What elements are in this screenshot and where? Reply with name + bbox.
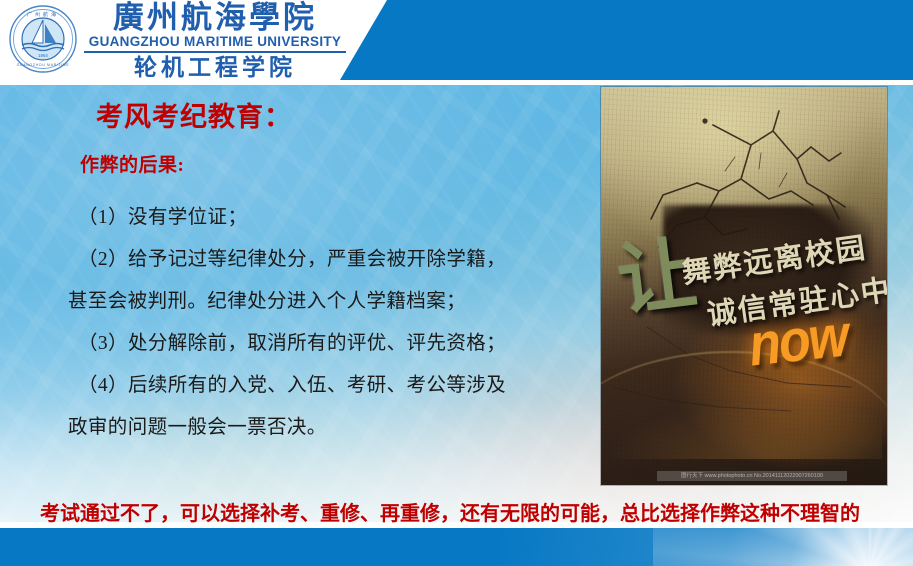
- list-item: 甚至会被判刑。纪律处分进入个人学籍档案；: [68, 281, 583, 323]
- identity-divider: [84, 51, 346, 53]
- university-seal-sailboat-icon: 1964 广州航海 GUANGZHOU MARITIME: [8, 4, 78, 74]
- slide-footer: [0, 528, 913, 566]
- slide-header: 1964 广州航海 GUANGZHOU MARITIME 廣州航海學院 GUAN…: [0, 0, 913, 80]
- poster-watermark: 图行天下 www.photophoto.cn No.20141112022007…: [657, 471, 847, 481]
- department-name-cn: 轮机工程学院: [84, 55, 346, 80]
- list-item: （2）给予记过等纪律处分，严重会被开除学籍，: [78, 239, 583, 281]
- section-subheading: 作弊的后果:: [80, 150, 184, 177]
- list-item: 政审的问题一般会一票否决。: [68, 407, 583, 449]
- page-title: 考风考纪教育：: [96, 95, 292, 134]
- closing-statement: 考试通过不了，可以选择补考、重修、再重修，还有无限的可能，总比选择作弊这种不理智…: [40, 497, 913, 526]
- list-item: （3）处分解除前，取消所有的评优、评先资格；: [78, 323, 583, 365]
- institution-name-en: GUANGZHOU MARITIME UNIVERSITY: [84, 34, 346, 49]
- svg-text:广州航海: 广州航海: [27, 11, 59, 18]
- institution-name-cn: 廣州航海學院: [84, 2, 346, 34]
- list-item: （1）没有学位证；: [78, 197, 583, 239]
- footer-light-burst-icon: [653, 528, 913, 566]
- svg-text:1964: 1964: [38, 53, 48, 58]
- anti-cheating-poster-image: 让 舞弊远离校园 诚信常驻心中 now 图行天下 www.photophoto.…: [601, 87, 887, 485]
- institution-identity: 廣州航海學院 GUANGZHOU MARITIME UNIVERSITY 轮机工…: [84, 2, 346, 80]
- presentation-slide: 1964 广州航海 GUANGZHOU MARITIME 廣州航海學院 GUAN…: [0, 0, 913, 566]
- slide-text-content: 考风考纪教育： 作弊的后果: （1）没有学位证； （2）给予记过等纪律处分，严重…: [0, 85, 600, 522]
- poster-bottom-glow: [606, 399, 882, 459]
- header-diagonal-stripe: [352, 0, 472, 80]
- consequences-list: （1）没有学位证； （2）给予记过等纪律处分，严重会被开除学籍， 甚至会被判刑。…: [78, 197, 583, 449]
- list-item: （4）后续所有的入党、入伍、考研、考公等涉及: [78, 365, 583, 407]
- svg-text:GUANGZHOU MARITIME: GUANGZHOU MARITIME: [17, 63, 70, 67]
- poster-now-label: now: [746, 306, 850, 376]
